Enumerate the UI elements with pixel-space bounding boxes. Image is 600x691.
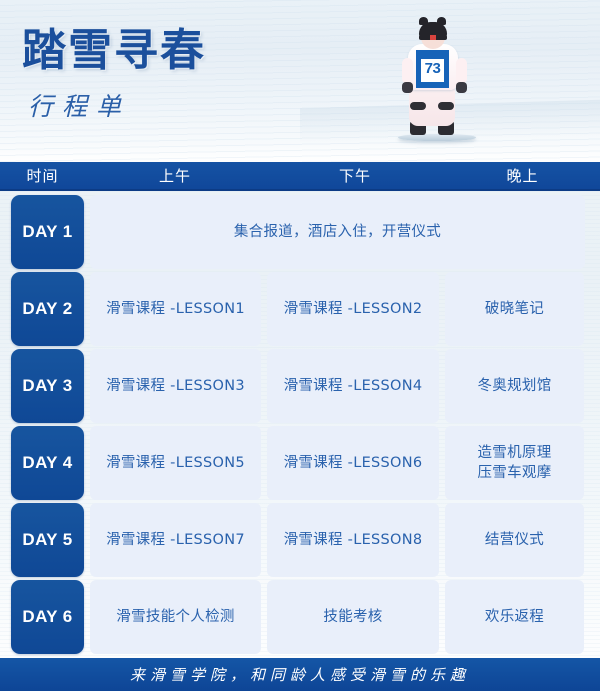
day-label-4: DAY 4 (11, 426, 84, 500)
bib-number: 73 (416, 60, 449, 77)
cell-afternoon-3: 滑雪课程 -LESSON4 (267, 349, 439, 423)
table-row: DAY 6滑雪技能个人检测技能考核欢乐返程 (0, 580, 600, 654)
table-row: DAY 4滑雪课程 -LESSON5滑雪课程 -LESSON6造雪机原理 压雪车… (0, 426, 600, 500)
cell-morning-3: 滑雪课程 -LESSON3 (90, 349, 261, 423)
column-header-evening: 晚上 (445, 165, 600, 186)
cell-evening-3: 冬奥规划馆 (445, 349, 584, 423)
hero-banner: 73 踏雪寻春 行程单 (0, 0, 600, 162)
snowboard-icon (398, 134, 476, 141)
day-label-1: DAY 1 (11, 195, 84, 269)
cell-afternoon-2: 滑雪课程 -LESSON2 (267, 272, 439, 346)
glove-right-icon (456, 82, 467, 93)
knee-pad-right (438, 102, 454, 110)
cell-morning-2: 滑雪课程 -LESSON1 (90, 272, 261, 346)
snowboarder-illustration: 73 (400, 14, 470, 144)
cell-all-day-1: 集合报道，酒店入住，开营仪式 (90, 195, 585, 269)
table-row: DAY 1集合报道，酒店入住，开营仪式 (0, 195, 600, 269)
cell-afternoon-6: 技能考核 (267, 580, 439, 654)
cell-morning-4: 滑雪课程 -LESSON5 (90, 426, 261, 500)
cell-evening-6: 欢乐返程 (445, 580, 584, 654)
table-header-row: 时间 上午 下午 晚上 (0, 162, 600, 191)
arm-right (456, 58, 467, 84)
cell-evening-5: 结营仪式 (445, 503, 584, 577)
column-header-time: 时间 (0, 165, 85, 186)
itinerary-poster: 73 踏雪寻春 行程单 时间 上午 下午 晚上 DAY 1集合报道，酒店入住，开… (0, 0, 600, 691)
table-row: DAY 5滑雪课程 -LESSON7滑雪课程 -LESSON8结营仪式 (0, 503, 600, 577)
page-subtitle: 行程单 (28, 92, 130, 122)
day-label-2: DAY 2 (11, 272, 84, 346)
table-row: DAY 2滑雪课程 -LESSON1滑雪课程 -LESSON2破晓笔记 (0, 272, 600, 346)
arm-left (402, 58, 413, 84)
table-row: DAY 3滑雪课程 -LESSON3滑雪课程 -LESSON4冬奥规划馆 (0, 349, 600, 423)
race-bib-bottom-band (416, 82, 449, 88)
day-label-3: DAY 3 (11, 349, 84, 423)
table-body: DAY 1集合报道，酒店入住，开营仪式DAY 2滑雪课程 -LESSON1滑雪课… (0, 195, 600, 657)
day-label-6: DAY 6 (11, 580, 84, 654)
cell-morning-6: 滑雪技能个人检测 (90, 580, 261, 654)
column-header-morning: 上午 (85, 165, 265, 186)
cell-afternoon-4: 滑雪课程 -LESSON6 (267, 426, 439, 500)
knee-pad-left (410, 102, 426, 110)
footer-slogan: 来滑雪学院，和同龄人感受滑雪的乐趣 (130, 664, 470, 685)
page-title: 踏雪寻春 (22, 26, 206, 76)
footer-band: 来滑雪学院，和同龄人感受滑雪的乐趣 (0, 658, 600, 691)
glove-left-icon (402, 82, 413, 93)
cell-afternoon-5: 滑雪课程 -LESSON8 (267, 503, 439, 577)
cell-morning-5: 滑雪课程 -LESSON7 (90, 503, 261, 577)
column-header-afternoon: 下午 (265, 165, 445, 186)
cell-evening-4: 造雪机原理 压雪车观摩 (445, 426, 584, 500)
cell-evening-2: 破晓笔记 (445, 272, 584, 346)
beanie-band (419, 35, 447, 40)
race-bib-top-band (416, 50, 449, 59)
day-label-5: DAY 5 (11, 503, 84, 577)
